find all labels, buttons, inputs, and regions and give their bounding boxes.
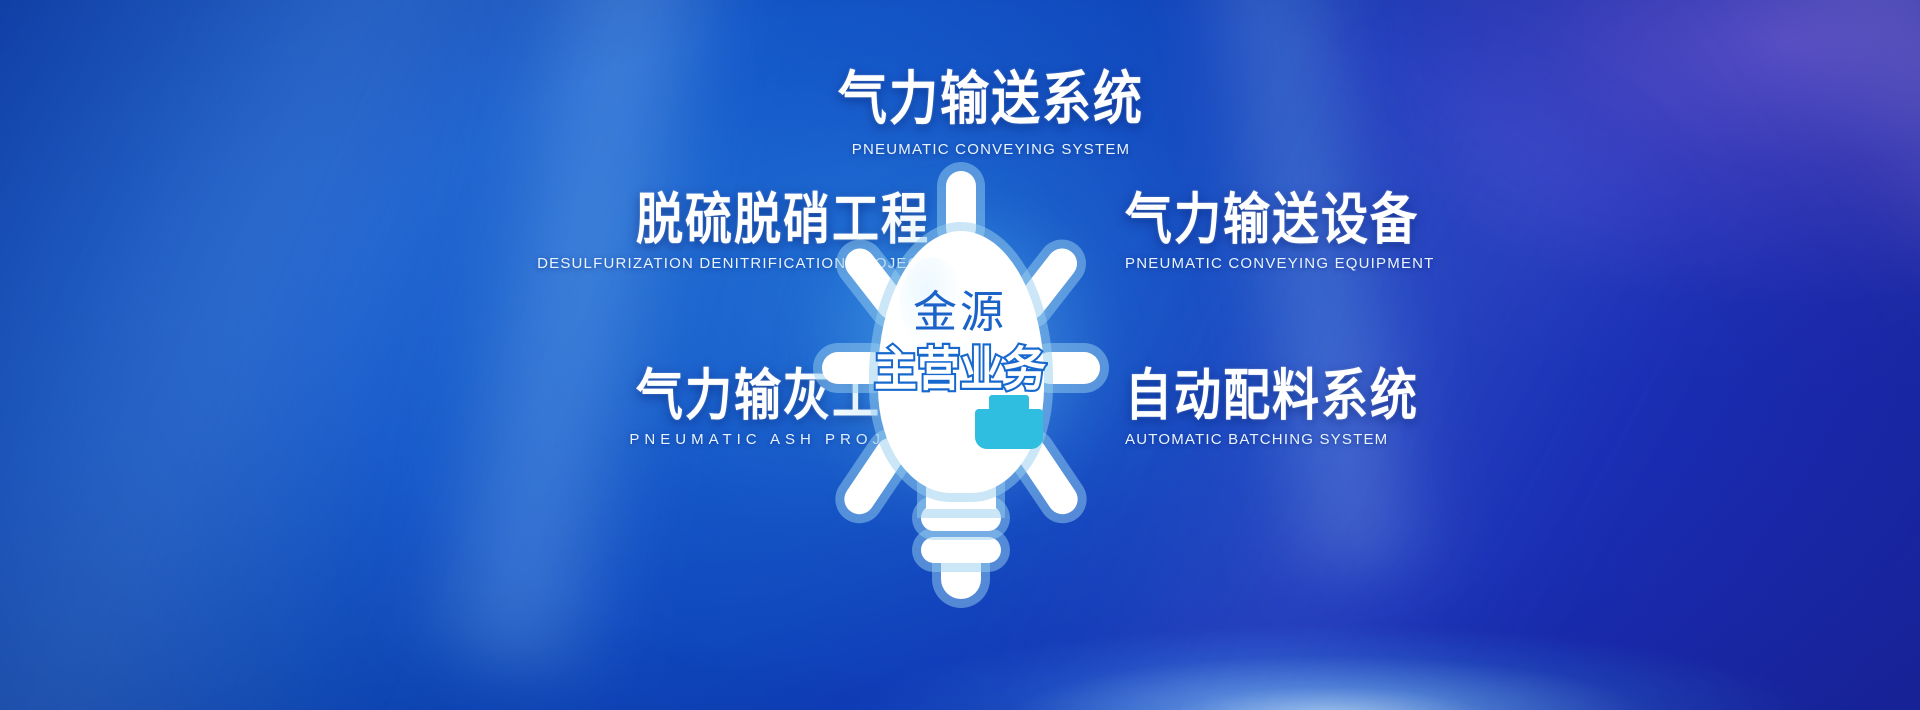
service-title-en: AUTOMATIC BATCHING SYSTEM — [1125, 431, 1525, 448]
light-beam-center-right — [1141, 0, 1457, 585]
light-beam-upper-left — [0, 0, 732, 710]
service-title-cn: 气力输送设备 — [1125, 190, 1525, 248]
lightbulb-icon: 金源 主营业务 — [830, 165, 1090, 605]
service-label-automatic-batching-system[interactable]: 自动配料系统 AUTOMATIC BATCHING SYSTEM — [1125, 366, 1525, 448]
service-title-cn: 自动配料系统 — [1125, 366, 1525, 424]
hero-banner: 气力输送系统 PNEUMATIC CONVEYING SYSTEM 脱硫脱硝工程… — [0, 0, 1920, 710]
service-title-en: PNEUMATIC CONVEYING EQUIPMENT — [1125, 255, 1525, 272]
light-beam-violet-upper-right — [1586, 0, 1920, 298]
service-title-cn: 气力输送系统 — [838, 70, 1144, 131]
light-beam-center-left — [390, 0, 788, 685]
brand-name: 金源 — [913, 291, 1007, 335]
lightbulb-center-text: 金源 主营业务 — [830, 165, 1090, 605]
service-label-pneumatic-conveying-equipment[interactable]: 气力输送设备 PNEUMATIC CONVEYING EQUIPMENT — [1125, 190, 1525, 272]
main-business-title: 主营业务 — [874, 347, 1046, 394]
